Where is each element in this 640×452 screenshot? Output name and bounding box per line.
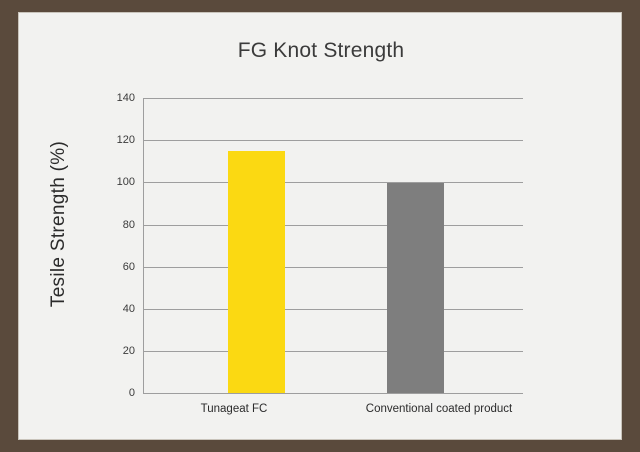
xtick-label-conventional-coated-product: Conventional coated product (319, 403, 559, 415)
ytick-label-60: 60 (101, 261, 135, 273)
image-frame: FG Knot Strength Tesile Strength (%) 140… (0, 0, 640, 452)
ytick-label-100: 100 (101, 176, 135, 188)
ytick-label-0: 0 (101, 387, 135, 399)
y-axis-label: Tesile Strength (%) (48, 124, 70, 324)
chart-card: FG Knot Strength Tesile Strength (%) 140… (18, 12, 622, 440)
chart-title: FG Knot Strength (19, 39, 623, 63)
ytick-label-40: 40 (101, 303, 135, 315)
ytick-label-20: 20 (101, 345, 135, 357)
bar-conventional-coated-product (387, 183, 444, 393)
bars-layer (143, 98, 523, 393)
ytick-label-120: 120 (101, 134, 135, 146)
xtick-label-tunageat-fc: Tunageat FC (174, 403, 294, 415)
ytick-label-140: 140 (101, 92, 135, 104)
bar-tunageat-fc (228, 151, 285, 393)
chart-plot-area: FG Knot Strength Tesile Strength (%) 140… (19, 13, 623, 441)
ytick-label-80: 80 (101, 219, 135, 231)
axis-baseline-0 (143, 393, 523, 394)
